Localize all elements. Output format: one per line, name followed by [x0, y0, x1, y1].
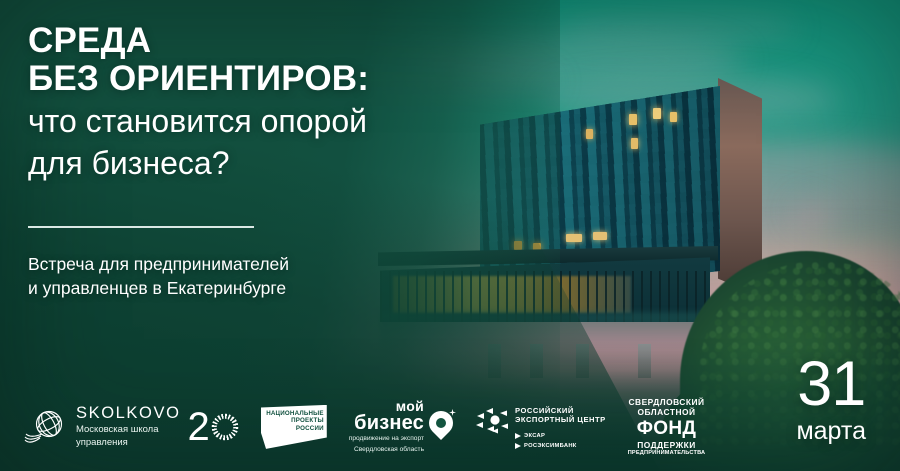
- fund-wordmark: СВЕРДЛОВСКИЙ ОБЛАСТНОЙ ФОНД ПОДДЕРЖКИ ПР…: [628, 397, 706, 457]
- headline-block: СРЕДА БЕЗ ОРИЕНТИРОВ: что становится опо…: [28, 22, 498, 182]
- rec-arrows-icon: [475, 406, 509, 436]
- skolkovo-name: SKOLKOVO: [76, 405, 181, 422]
- skolkovo-wordmark: SKOLKOVO Московская школа управления: [76, 405, 181, 449]
- logo-sverdlovsk-fund[interactable]: СВЕРДЛОВСКИЙ ОБЛАСТНОЙ ФОНД ПОДДЕРЖКИ ПР…: [628, 397, 706, 457]
- my-business-tagline-1: продвижение на экспорт: [349, 435, 424, 443]
- headline-line-2: БЕЗ ОРИЕНТИРОВ:: [28, 60, 498, 98]
- my-business-tagline-2: Свердловская область: [349, 446, 424, 454]
- fund-line-1: СВЕРДЛОВСКИЙ: [628, 397, 706, 407]
- lit-window: [593, 232, 607, 240]
- event-promo-banner: СРЕДА БЕЗ ОРИЕНТИРОВ: что становится опо…: [0, 0, 900, 471]
- my-business-line-1: мой: [349, 399, 424, 413]
- headline-line-4: для бизнеса?: [28, 145, 498, 182]
- np-line-2: ПРОЕКТЫ: [266, 417, 324, 424]
- lit-window: [670, 112, 677, 122]
- lit-window: [586, 129, 593, 139]
- lit-window: [629, 114, 637, 125]
- headline-divider: [28, 226, 254, 228]
- national-projects-text: НАЦИОНАЛЬНЫЕ ПРОЕКТЫ РОССИИ: [266, 410, 324, 432]
- np-line-1: НАЦИОНАЛЬНЫЕ: [266, 410, 324, 417]
- logo-russian-export-center[interactable]: РОССИЙСКИЙ ЭКСПОРТНЫЙ ЦЕНТР ЭКСАР РОСЭКС…: [475, 404, 606, 450]
- triangle-icon: [515, 443, 521, 449]
- my-business-wordmark: мой бизнес продвижение на экспорт Свердл…: [349, 399, 424, 454]
- lit-window: [631, 138, 638, 149]
- skolkovo-sub-line-1: Московская школа: [76, 424, 181, 436]
- rec-wordmark: РОССИЙСКИЙ ЭКСПОРТНЫЙ ЦЕНТР ЭКСАР РОСЭКС…: [515, 404, 606, 450]
- logo-my-business[interactable]: мой бизнес продвижение на экспорт Свердл…: [349, 399, 453, 454]
- subtitle-block: Встреча для предпринимателей и управленц…: [28, 252, 428, 300]
- national-projects-flag-icon: НАЦИОНАЛЬНЫЕ ПРОЕКТЫ РОССИИ: [261, 405, 327, 449]
- np-line-3: РОССИИ: [266, 425, 324, 432]
- partner-logo-strip: SKOLKOVO Московская школа управления 2 Н…: [22, 397, 705, 457]
- anniversary-dotted-ring-icon: [211, 413, 239, 441]
- logo-skolkovo[interactable]: SKOLKOVO Московская школа управления 2: [22, 404, 239, 450]
- skolkovo-sub-line-2: управления: [76, 437, 181, 449]
- rec-subbrands: ЭКСАР РОСЭКСИМБАНК: [515, 432, 606, 450]
- pin-hole: [436, 418, 446, 428]
- map-pin-icon: [429, 411, 453, 443]
- fund-line-4: ПОДДЕРЖКИ: [628, 440, 706, 450]
- lit-window: [653, 108, 661, 119]
- event-date-month: марта: [796, 417, 866, 445]
- my-business-line-2: бизнес: [349, 413, 424, 433]
- event-date-day: 31: [796, 355, 866, 413]
- skolkovo-globe-icon: [22, 404, 68, 450]
- triangle-icon: [515, 433, 521, 439]
- logo-national-projects[interactable]: НАЦИОНАЛЬНЫЕ ПРОЕКТЫ РОССИИ: [261, 405, 327, 449]
- rec-subbrand-row: РОСЭКСИМБАНК: [515, 442, 606, 450]
- rec-sub-2: РОСЭКСИМБАНК: [524, 442, 577, 450]
- fund-line-2: ОБЛАСТНОЙ: [628, 407, 706, 417]
- fund-line-5: ПРЕДПРИНИМАТЕЛЬСТВА: [628, 450, 706, 457]
- anniversary-digit: 2: [188, 407, 210, 447]
- rec-subbrand-row: ЭКСАР: [515, 432, 606, 440]
- subtitle-line-2: и управленцев в Екатеринбурге: [28, 276, 428, 300]
- event-date-block: 31 марта: [796, 355, 866, 445]
- skolkovo-anniversary-mark: 2: [188, 407, 239, 447]
- rec-sub-1: ЭКСАР: [524, 432, 545, 440]
- rec-line-2: ЭКСПОРТНЫЙ ЦЕНТР: [515, 415, 606, 425]
- headline-line-1: СРЕДА: [28, 22, 498, 60]
- lit-window: [566, 234, 582, 242]
- headline-line-3: что становится опорой: [28, 103, 498, 140]
- fund-line-3: ФОНД: [628, 419, 706, 439]
- subtitle-line-1: Встреча для предпринимателей: [28, 252, 428, 276]
- rec-line-1: РОССИЙСКИЙ: [515, 406, 606, 416]
